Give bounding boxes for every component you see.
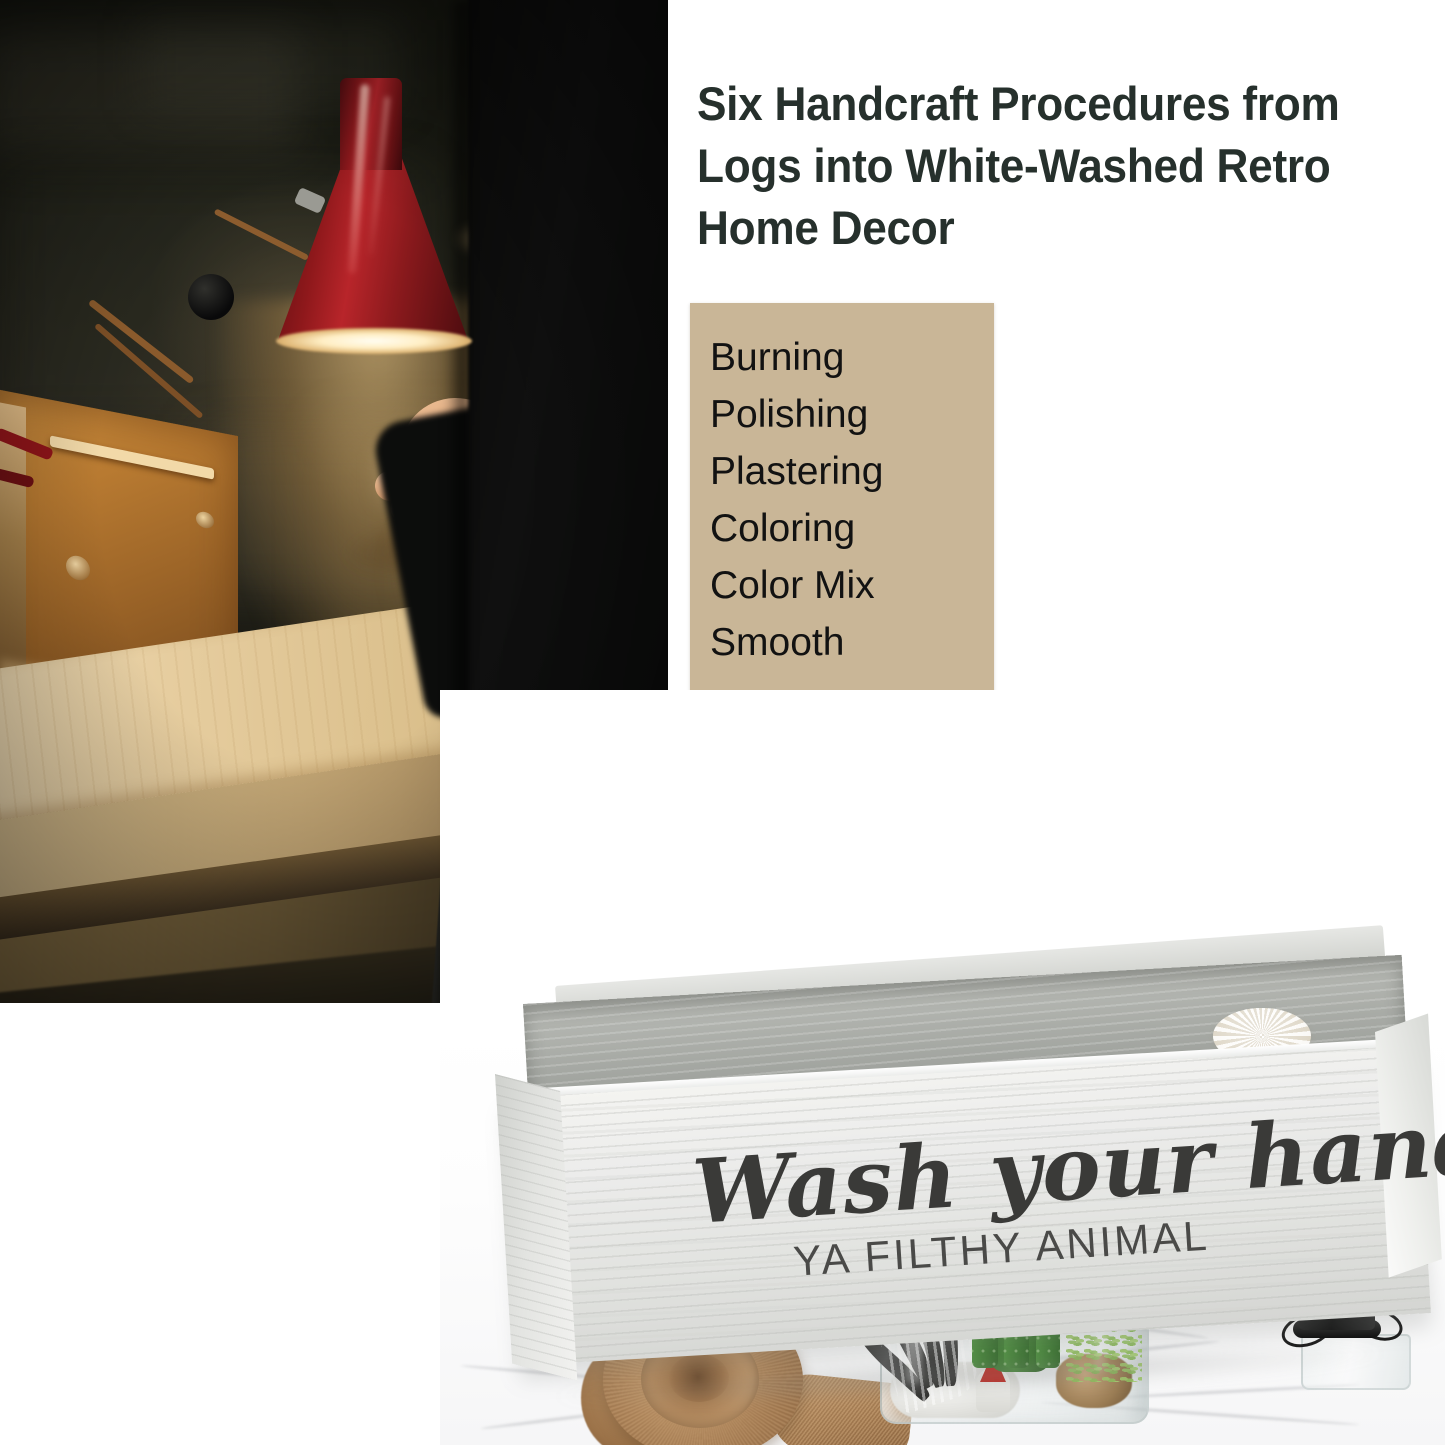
- procedure-item-burning: Burning: [710, 329, 980, 386]
- procedure-item-color-mix: Color Mix: [710, 557, 980, 614]
- procedure-item-polishing: Polishing: [710, 386, 980, 443]
- desk-lamp-shade: [278, 78, 468, 340]
- lamp-neck: [340, 78, 402, 170]
- lamp-pivot-joint: [188, 274, 234, 320]
- procedure-item-plastering: Plastering: [710, 443, 980, 500]
- procedure-item-coloring: Coloring: [710, 500, 980, 557]
- poster-canvas: Six Handcraft Procedures from Logs into …: [0, 0, 1445, 1445]
- procedure-item-smooth: Smooth: [710, 614, 980, 671]
- procedures-list: Burning Polishing Plastering Coloring Co…: [710, 329, 980, 671]
- procedures-panel: Burning Polishing Plastering Coloring Co…: [690, 303, 994, 746]
- lamp-bulb-rim: [276, 328, 472, 354]
- page-title: Six Handcraft Procedures from Logs into …: [697, 73, 1383, 259]
- wooden-tray: Wash your hands YA FILTHY ANIMAL: [495, 986, 1415, 1406]
- product-photo: Wash your hands YA FILTHY ANIMAL: [440, 690, 1445, 1445]
